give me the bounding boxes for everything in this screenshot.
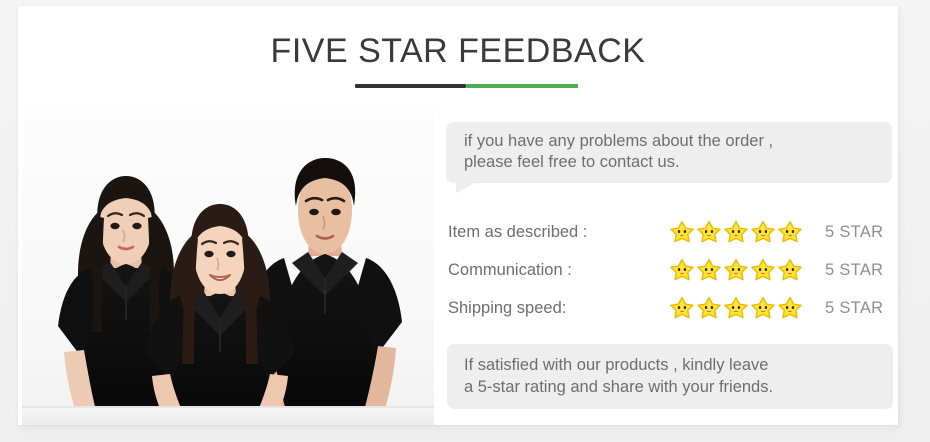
rating-value: 5 STAR (825, 299, 883, 318)
star-icon (750, 295, 776, 321)
rating-label: Communication : (448, 261, 669, 280)
star-icon (669, 257, 695, 283)
star-icon (669, 219, 695, 245)
star-rating (669, 295, 803, 321)
star-icon (777, 257, 803, 283)
star-icon (750, 257, 776, 283)
team-photo (22, 106, 434, 425)
rating-row: Shipping speed: 5 STAR (448, 289, 894, 327)
rating-value: 5 STAR (825, 261, 883, 280)
star-icon (723, 257, 749, 283)
title-underline-dark (355, 84, 466, 88)
contact-message-line-1: if you have any problems about the order… (464, 132, 773, 150)
star-icon (777, 295, 803, 321)
rating-value: 5 STAR (825, 223, 883, 242)
star-icon (750, 219, 776, 245)
title-underline-green (466, 84, 578, 88)
star-icon (777, 219, 803, 245)
contact-message-line-2: please feel free to contact us. (464, 152, 878, 173)
review-request-line-2: a 5-star rating and share with your frie… (464, 376, 879, 398)
star-icon (723, 295, 749, 321)
rating-row: Item as described : 5 STAR (448, 213, 894, 251)
star-rating (669, 219, 803, 245)
feedback-banner: FIVE STAR FEEDBACK (0, 0, 930, 442)
page-title: FIVE STAR FEEDBACK (18, 32, 898, 71)
rating-label: Item as described : (448, 223, 669, 242)
star-icon (696, 219, 722, 245)
review-request-note: If satisfied with our products , kindly … (447, 344, 893, 409)
feedback-card: FIVE STAR FEEDBACK (18, 6, 898, 425)
contact-message-bubble: if you have any problems about the order… (446, 122, 892, 183)
star-icon (696, 257, 722, 283)
star-rating (669, 257, 803, 283)
star-icon (723, 219, 749, 245)
feedback-details: if you have any problems about the order… (446, 118, 894, 418)
rating-label: Shipping speed: (448, 299, 669, 318)
team-photo-illustration (22, 106, 434, 425)
speech-bubble-tail-icon (456, 179, 482, 193)
rating-row: Communication : 5 STAR (448, 251, 894, 289)
star-icon (696, 295, 722, 321)
star-icon (669, 295, 695, 321)
review-request-line-1: If satisfied with our products , kindly … (464, 356, 768, 374)
rating-list: Item as described : 5 STAR Communication… (448, 213, 894, 327)
